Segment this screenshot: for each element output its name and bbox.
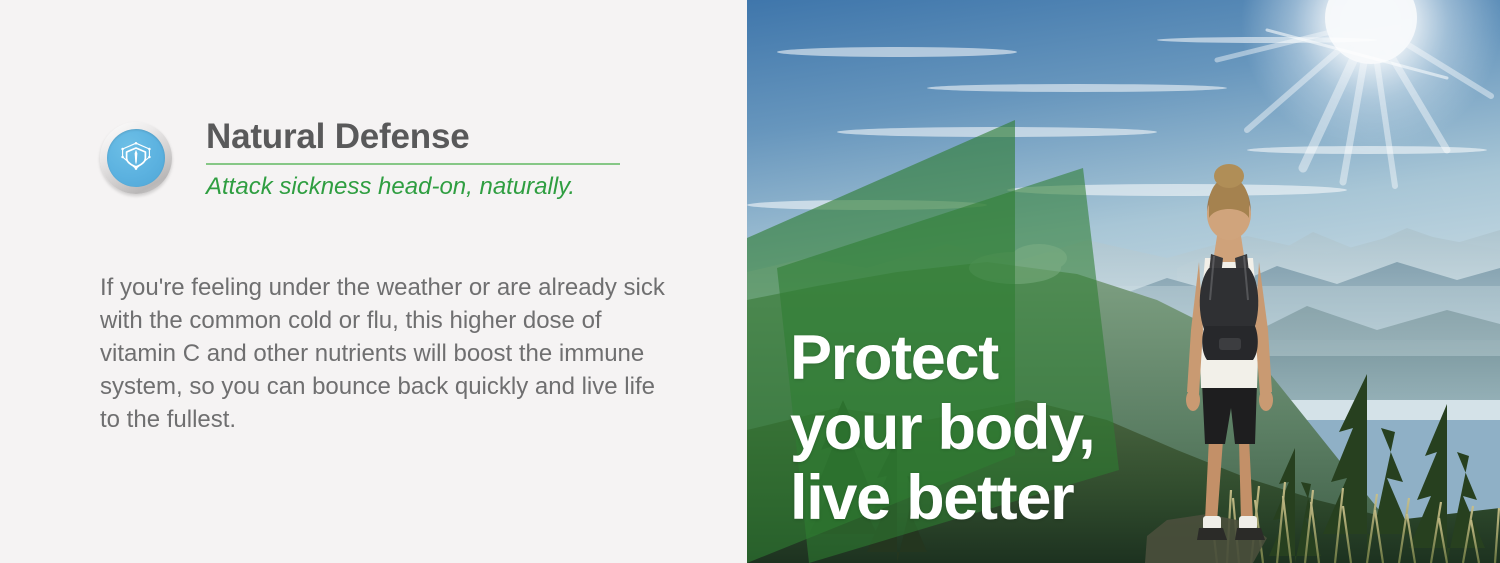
page-title: Natural Defense [206,116,620,158]
page-subtitle: Attack sickness head-on, naturally. [206,172,620,202]
left-content-panel: Natural Defense Attack sickness head-on,… [0,0,747,563]
body-paragraph: If you're feeling under the weather or a… [100,271,680,436]
hero-headline: Protect your body, live better [790,323,1094,533]
badge-inner-circle [107,129,165,187]
hero-image-panel: Protect your body, live better [747,0,1500,563]
shield-badge-icon [100,122,172,194]
promo-banner: Natural Defense Attack sickness head-on,… [0,0,1500,563]
headline-line-3: live better [790,463,1094,533]
headline-line-2: your body, [790,393,1094,463]
headline-line-1: Protect [790,323,1094,393]
title-divider [206,163,620,165]
title-block: Natural Defense Attack sickness head-on,… [206,116,620,202]
shield-glyph-icon [118,140,154,176]
